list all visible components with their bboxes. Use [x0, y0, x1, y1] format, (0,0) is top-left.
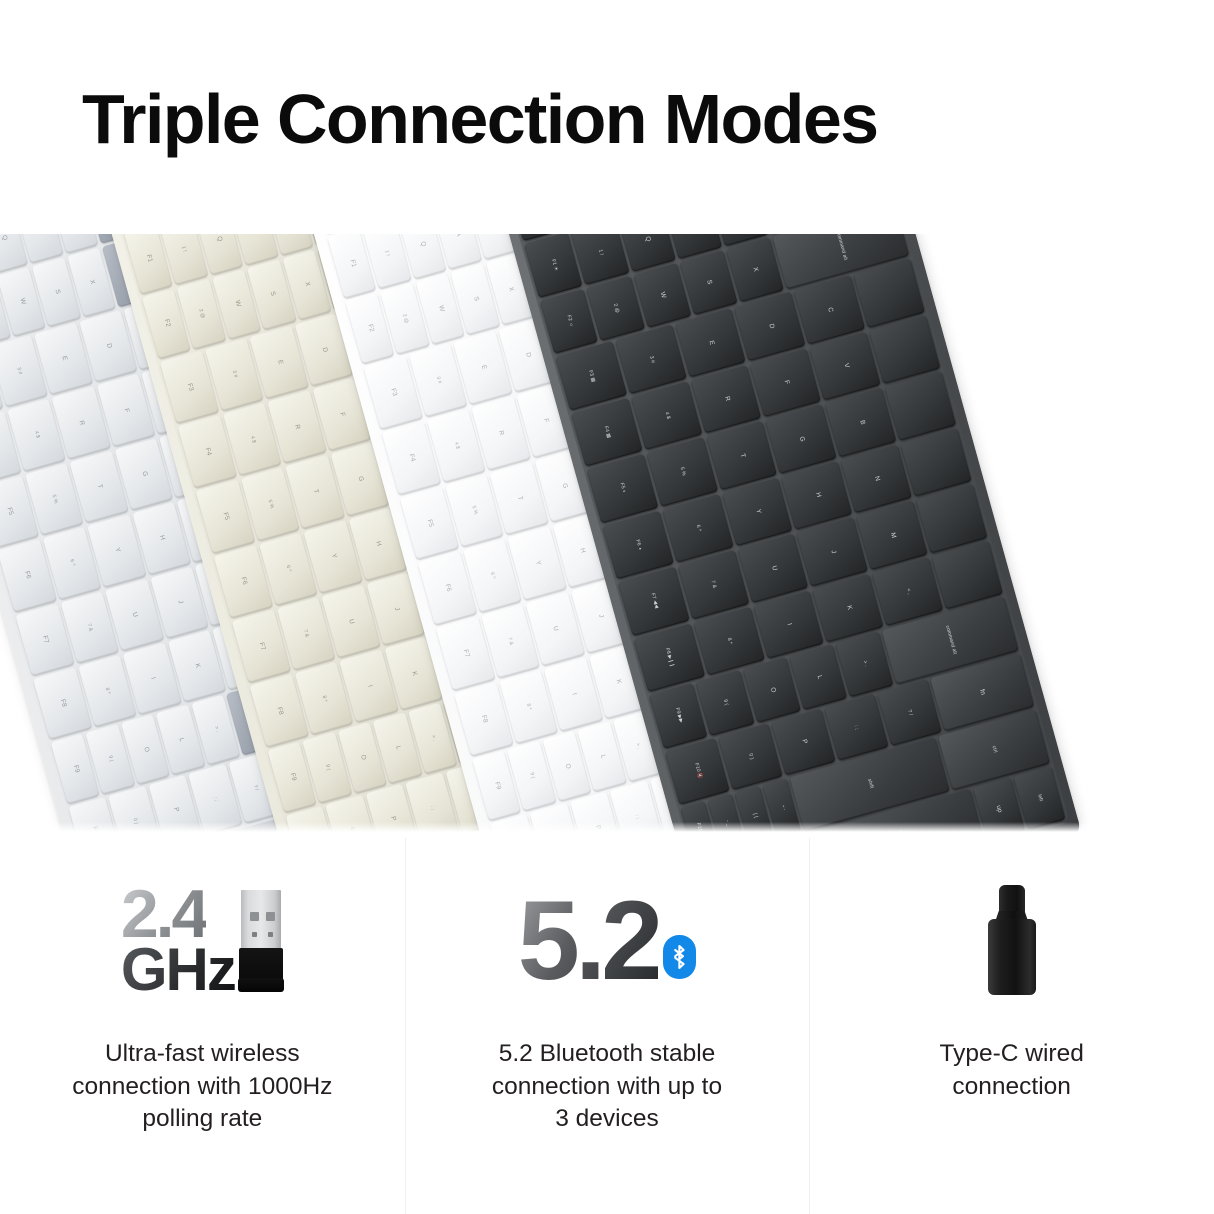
- keyboard-hero-image: esc~ `tabcaps lockshiftcontrolF11 !QAZop…: [0, 200, 1214, 838]
- bluetooth-version-number: 5.2: [518, 891, 659, 992]
- ghz-lockup: 2.4 GHz: [121, 886, 284, 996]
- feature-bluetooth-caption: 5.2 Bluetooth stable connection with up …: [492, 1038, 722, 1136]
- ghz-unit: GHz: [121, 945, 235, 995]
- usb-pin: [268, 932, 273, 937]
- keyboard-fan-stage: esc~ `tabcaps lockshiftcontrolF11 !QAZop…: [0, 200, 1214, 838]
- usb-dongle-icon: [238, 890, 284, 996]
- usb-contact: [266, 912, 275, 921]
- page-title: Triple Connection Modes: [82, 84, 877, 154]
- usb-base: [238, 978, 284, 992]
- feature-24ghz: 2.4 GHz Ultra-fast wireless connection w…: [0, 838, 405, 1214]
- feature-row: 2.4 GHz Ultra-fast wireless connection w…: [0, 838, 1214, 1214]
- feature-typec-caption: Type-C wired connection: [940, 1038, 1084, 1103]
- usb-type-c-icon: [982, 885, 1042, 997]
- usb-connector-shell: [241, 890, 281, 952]
- hero-top-mask: [0, 200, 1214, 234]
- feature-bluetooth-visual: 5.2: [518, 860, 697, 1022]
- keycap: P: [771, 708, 836, 775]
- ghz-text-block: 2.4 GHz: [121, 886, 235, 996]
- hero-bottom-mask: [0, 822, 1214, 838]
- typec-body: [988, 919, 1036, 995]
- ghz-number: 2.4: [121, 886, 207, 943]
- feature-24ghz-visual: 2.4 GHz: [121, 860, 284, 1022]
- keycap: : ;: [824, 694, 889, 761]
- feature-24ghz-caption: Ultra-fast wireless connection with 1000…: [72, 1038, 332, 1136]
- keycap: ? /: [876, 679, 941, 746]
- feature-typec-visual: [982, 860, 1042, 1022]
- bluetooth-icon: [663, 935, 696, 979]
- feature-bluetooth: 5.2 5.2 Bluetooth stable connection with…: [405, 838, 810, 1214]
- usb-pin: [252, 932, 257, 937]
- bluetooth-lockup: 5.2: [518, 891, 697, 992]
- usb-contact: [250, 912, 259, 921]
- feature-typec: Type-C wired connection: [809, 838, 1214, 1214]
